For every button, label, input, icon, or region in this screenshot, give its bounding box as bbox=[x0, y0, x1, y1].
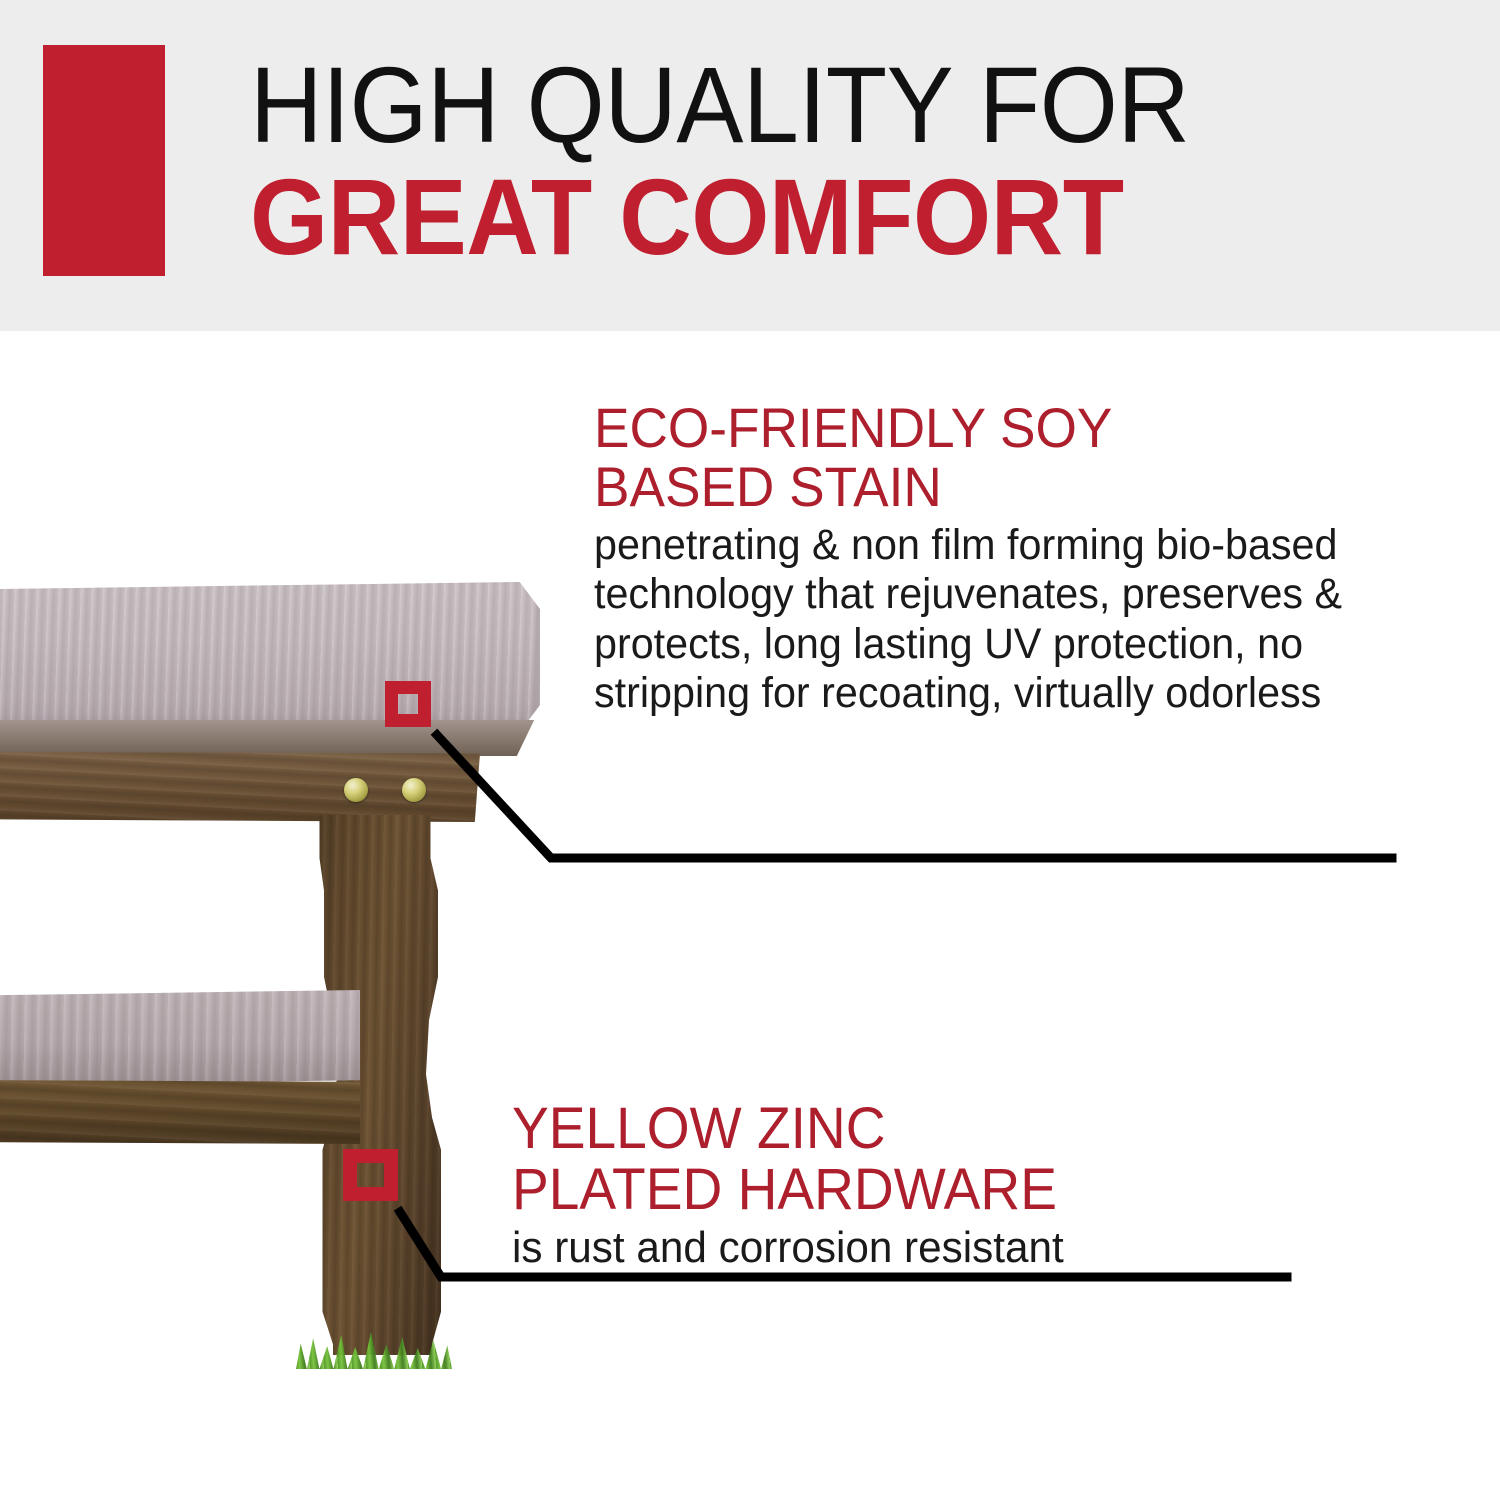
header-accent-bar bbox=[43, 45, 165, 276]
bench-lower-shelf-edge bbox=[0, 1080, 360, 1144]
leader-line-stain bbox=[437, 735, 1392, 858]
screw-head-icon bbox=[402, 778, 426, 802]
bench-top-surface bbox=[0, 582, 540, 732]
header-title-group: HIGH QUALITY FOR GREAT COMFORT bbox=[250, 52, 1460, 270]
header-band: HIGH QUALITY FOR GREAT COMFORT bbox=[0, 0, 1500, 331]
feature-heading-stain: ECO-FRIENDLY SOY BASED STAIN bbox=[594, 398, 1354, 517]
headline-secondary: GREAT COMFORT bbox=[250, 164, 1375, 270]
product-photo bbox=[0, 560, 540, 1390]
bench-top-edge bbox=[0, 720, 540, 756]
bench-lower-shelf-surface bbox=[0, 990, 360, 1086]
feature-heading-hardware: YELLOW ZINC PLATED HARDWARE bbox=[512, 1098, 1263, 1221]
callout-marker-stain bbox=[385, 681, 431, 727]
callout-marker-hardware bbox=[343, 1149, 398, 1201]
feature-block-stain: ECO-FRIENDLY SOY BASED STAIN penetrating… bbox=[594, 398, 1394, 718]
infographic-canvas: HIGH QUALITY FOR GREAT COMFORT ECO-FRIEN… bbox=[0, 0, 1500, 1500]
feature-body-stain: penetrating & non film forming bio-based… bbox=[594, 521, 1362, 719]
screw-head-icon bbox=[344, 778, 368, 802]
headline-primary: HIGH QUALITY FOR bbox=[250, 52, 1375, 158]
feature-block-hardware: YELLOW ZINC PLATED HARDWARE is rust and … bbox=[512, 1098, 1302, 1274]
feature-body-hardware: is rust and corrosion resistant bbox=[512, 1223, 1270, 1274]
